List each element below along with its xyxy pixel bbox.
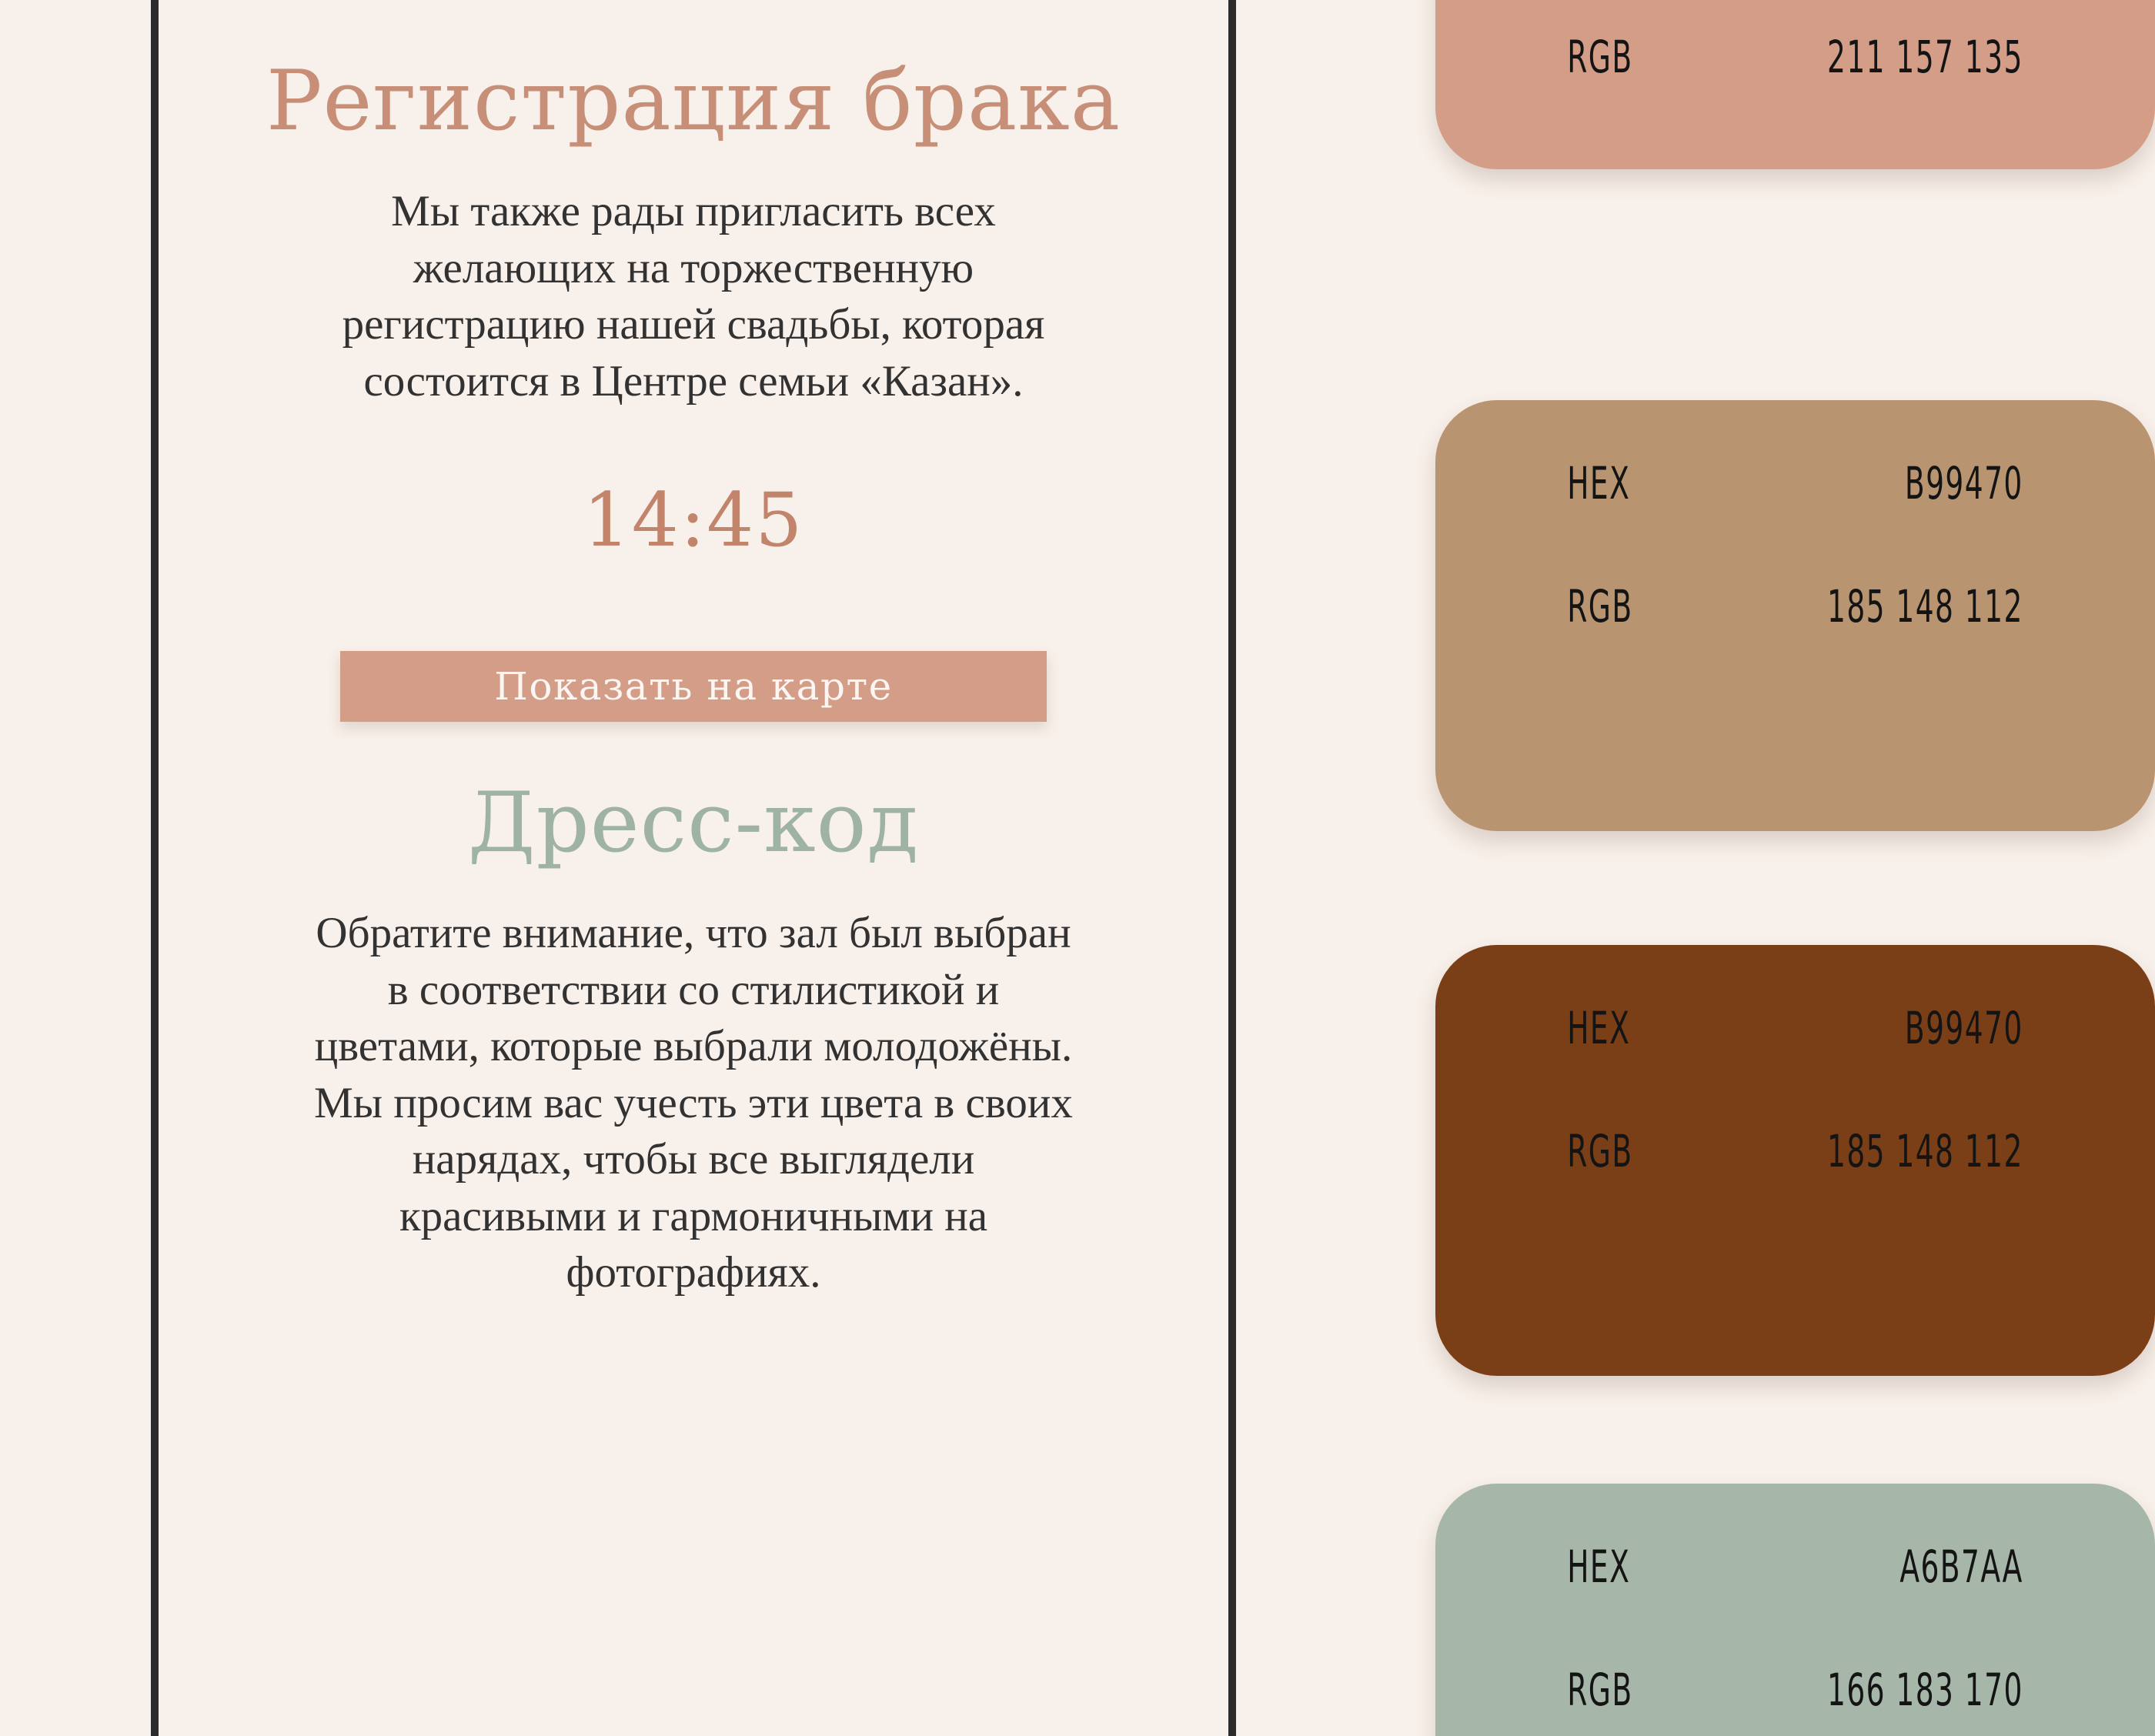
swatch-rgb-row: RGB185 148 112 bbox=[1567, 1125, 2023, 1177]
hex-value: B99470 bbox=[1905, 457, 2023, 509]
rgb-label: RGB bbox=[1567, 1125, 1632, 1177]
swatch-row-spacer bbox=[1478, 509, 2112, 580]
swatch-text-block: HEXB99470RGB185 148 112 bbox=[1478, 945, 2112, 1177]
show-on-map-button[interactable]: Показать на карте bbox=[340, 651, 1047, 722]
swatch-rgb-row: RGB185 148 112 bbox=[1567, 580, 2023, 633]
swatch-row-spacer bbox=[1478, 1593, 2112, 1664]
rgb-value: 166 183 170 bbox=[1827, 1664, 2023, 1716]
swatch-hex-row: HEXB99470 bbox=[1567, 1002, 2023, 1054]
rgb-value: 185 148 112 bbox=[1827, 580, 2023, 633]
marriage-registration-title: Регистрация брака bbox=[228, 60, 1159, 143]
hex-value: A6B7AA bbox=[1899, 1541, 2023, 1593]
swatch-row-spacer bbox=[1478, 1054, 2112, 1125]
swatch-text-block: HEXA6B7AARGB166 183 170 bbox=[1478, 1484, 2112, 1716]
dress-code-body: Обратите внимание, что зал был выбран в … bbox=[305, 905, 1082, 1301]
color-swatch-dusty-rose: RGB211 157 135 bbox=[1435, 0, 2155, 169]
hex-value: B99470 bbox=[1905, 1002, 2023, 1054]
hex-label: HEX bbox=[1567, 1002, 1630, 1054]
phone-content: Регистрация брака Мы также рады пригласи… bbox=[159, 0, 1228, 1301]
phone-frame-right-edge bbox=[1228, 0, 1236, 1736]
rgb-value: 185 148 112 bbox=[1827, 1125, 2023, 1177]
dress-code-title: Дресс-код bbox=[228, 782, 1159, 865]
color-swatch-tan: HEXB99470RGB185 148 112 bbox=[1435, 400, 2155, 831]
rgb-label: RGB bbox=[1567, 580, 1632, 633]
screenshot-root: Регистрация брака Мы также рады пригласи… bbox=[0, 0, 2155, 1736]
rgb-value: 211 157 135 bbox=[1827, 31, 2023, 83]
color-palette-column: RGB211 157 135HEXB99470RGB185 148 112HEX… bbox=[1435, 0, 2155, 1736]
color-swatch-sage-green: HEXA6B7AARGB166 183 170 bbox=[1435, 1484, 2155, 1736]
marriage-registration-body: Мы также рады пригласить всех желающих н… bbox=[305, 183, 1082, 409]
hex-label: HEX bbox=[1567, 1541, 1630, 1593]
swatch-text-block: HEXB99470RGB185 148 112 bbox=[1478, 400, 2112, 633]
ceremony-time: 14:45 bbox=[228, 483, 1159, 557]
dress-code-section: Дресс-код Обратите внимание, что зал был… bbox=[228, 782, 1159, 1301]
phone-screen: Регистрация брака Мы также рады пригласи… bbox=[159, 0, 1228, 1736]
phone-frame-left-edge bbox=[151, 0, 159, 1736]
swatch-hex-row: HEXB99470 bbox=[1567, 457, 2023, 509]
color-swatch-burnt-brown: HEXB99470RGB185 148 112 bbox=[1435, 945, 2155, 1376]
swatch-rgb-row: RGB166 183 170 bbox=[1567, 1664, 2023, 1716]
swatch-text-block: RGB211 157 135 bbox=[1478, 0, 2112, 83]
swatch-hex-row: HEXA6B7AA bbox=[1567, 1541, 2023, 1593]
rgb-label: RGB bbox=[1567, 31, 1632, 83]
swatch-rgb-row: RGB211 157 135 bbox=[1567, 31, 2023, 83]
hex-label: HEX bbox=[1567, 457, 1630, 509]
rgb-label: RGB bbox=[1567, 1664, 1632, 1716]
